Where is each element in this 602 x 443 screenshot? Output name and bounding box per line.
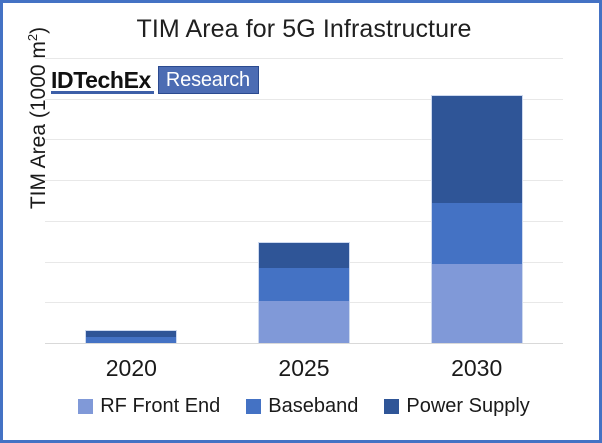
axis-baseline xyxy=(45,343,563,344)
bar-segment-2030-power-supply[interactable] xyxy=(431,95,523,203)
bar-segment-2025-power-supply[interactable] xyxy=(258,242,350,269)
bar-group-2025[interactable] xyxy=(258,242,350,344)
x-tick-label-2025: 2025 xyxy=(278,355,329,382)
gridline xyxy=(45,58,563,59)
bar-group-2030[interactable] xyxy=(431,95,523,344)
plot-area xyxy=(45,58,563,344)
legend-label-rf-front-end: RF Front End xyxy=(100,395,220,418)
legend-item-power-supply[interactable]: Power Supply xyxy=(384,395,529,418)
chart-title: TIM Area for 5G Infrastructure xyxy=(3,15,602,44)
x-tick-label-2030: 2030 xyxy=(451,355,502,382)
y-axis-title-tail: ) xyxy=(27,27,50,34)
bar-segment-2025-baseband[interactable] xyxy=(258,268,350,301)
legend-item-rf-front-end[interactable]: RF Front End xyxy=(78,395,220,418)
legend-label-power-supply: Power Supply xyxy=(406,395,529,418)
bar-segment-2030-rf-front-end[interactable] xyxy=(431,264,523,344)
bar-group-2020[interactable] xyxy=(85,330,177,344)
legend-label-baseband: Baseband xyxy=(268,395,358,418)
bar-segment-2030-baseband[interactable] xyxy=(431,203,523,264)
bar-segment-2025-rf-front-end[interactable] xyxy=(258,301,350,344)
legend-swatch-power-supply xyxy=(384,399,399,414)
legend-swatch-baseband xyxy=(246,399,261,414)
bar-segment-2020-power-supply[interactable] xyxy=(85,330,177,337)
idtechex-brand-text: IDTechEx xyxy=(51,66,154,94)
x-tick-label-2020: 2020 xyxy=(106,355,157,382)
chart-legend: RF Front EndBasebandPower Supply xyxy=(3,395,602,418)
x-axis-labels: 202020252030 xyxy=(45,355,563,389)
legend-item-baseband[interactable]: Baseband xyxy=(246,395,358,418)
chart-card: TIM Area for 5G Infrastructure TIM Area … xyxy=(0,0,602,443)
y-axis-title-superscript: 2 xyxy=(25,34,40,41)
idtechex-research-badge: Research xyxy=(158,66,259,94)
legend-swatch-rf-front-end xyxy=(78,399,93,414)
idtechex-watermark: IDTechEx Research xyxy=(51,66,259,94)
